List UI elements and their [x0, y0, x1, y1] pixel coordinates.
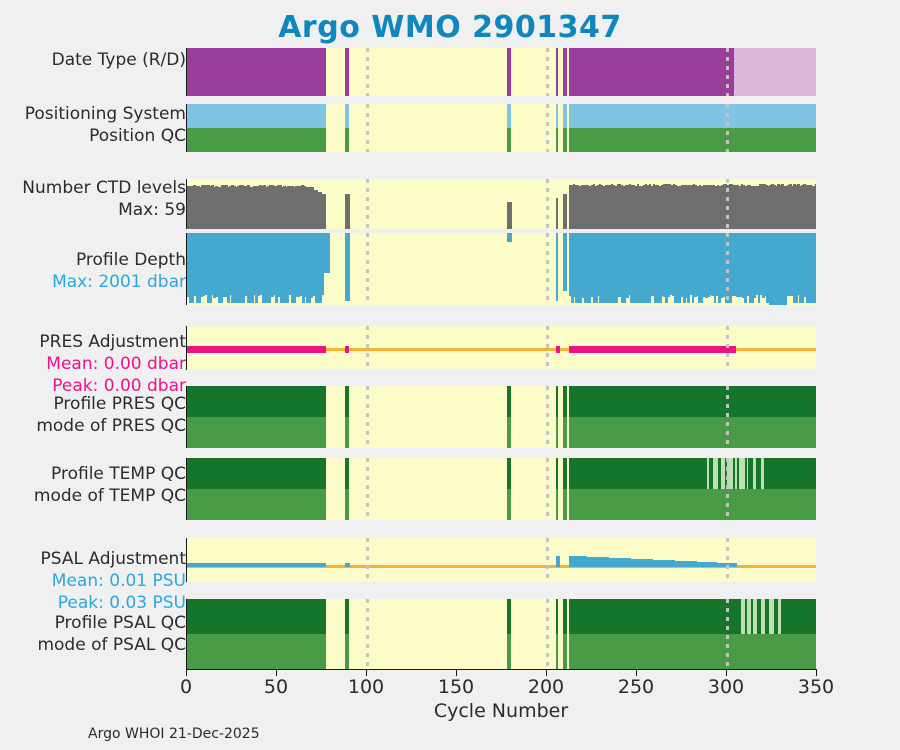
x-axis	[186, 669, 816, 670]
label-text: Profile PSAL QC	[0, 613, 186, 635]
psal-adjustment-segment	[558, 556, 561, 567]
row-label-pres-qc: Profile PRES QC mode of PRES QC	[0, 394, 186, 438]
x-tick-label: 100	[348, 676, 384, 698]
data-segment	[767, 458, 816, 489]
data-segment	[507, 634, 511, 669]
panel-ctd-levels	[186, 179, 816, 229]
pres-adjustment-segment	[345, 346, 349, 353]
data-bar	[556, 233, 558, 301]
data-segment	[345, 128, 349, 152]
gridline	[366, 179, 369, 229]
gridline	[726, 458, 729, 520]
gridline	[366, 599, 369, 669]
data-segment	[345, 48, 349, 96]
gridline	[546, 48, 549, 96]
x-tick-label: 300	[708, 676, 744, 698]
data-segment	[556, 599, 558, 634]
data-bar	[556, 198, 558, 229]
row-label-date-type: Date Type (R/D)	[0, 50, 186, 72]
row-label-temp-qc: Profile TEMP QC mode of TEMP QC	[0, 464, 186, 508]
qc-stripe	[735, 458, 737, 489]
label-text: PRES Adjustment	[0, 332, 186, 354]
data-segment	[345, 489, 349, 520]
gridline	[546, 386, 549, 448]
gridline	[366, 538, 369, 582]
x-tick	[366, 669, 367, 676]
gridline	[546, 179, 549, 229]
label-text: Profile PRES QC	[0, 394, 186, 416]
label-psal-mean: Mean: 0.01 PSU	[0, 571, 186, 593]
data-segment	[187, 489, 326, 520]
data-segment	[563, 458, 567, 489]
data-bar	[815, 233, 816, 303]
data-segment	[563, 599, 567, 634]
label-text: mode of TEMP QC	[0, 486, 186, 508]
row-label-psal-adjustment: PSAL Adjustment Mean: 0.01 PSU Peak: 0.0…	[0, 549, 186, 614]
x-axis-label: Cycle Number	[186, 700, 816, 722]
gridline	[546, 599, 549, 669]
data-segment	[569, 386, 816, 417]
gridline	[546, 458, 549, 520]
gridline	[726, 599, 729, 669]
data-segment	[345, 634, 349, 669]
row-label-profile-depth: Profile Depth Max: 2001 dbar	[0, 250, 186, 294]
data-segment	[556, 128, 558, 152]
label-max-depth: Max: 2001 dbar	[0, 272, 186, 294]
data-segment	[345, 386, 349, 417]
label-text: Max: 59	[0, 200, 186, 222]
data-segment	[569, 417, 816, 448]
x-tick	[546, 669, 547, 676]
x-tick	[816, 669, 817, 676]
label-text: Position QC	[0, 126, 186, 148]
gridline	[726, 48, 729, 96]
data-segment	[569, 128, 816, 152]
data-segment	[507, 128, 511, 152]
pres-adjustment-segment	[569, 346, 736, 353]
data-segment	[563, 386, 567, 417]
gridline	[366, 48, 369, 96]
data-bar	[509, 202, 511, 230]
x-tick-label: 350	[798, 676, 834, 698]
data-segment	[569, 634, 816, 669]
panel-date-type	[186, 48, 816, 96]
data-bar	[509, 233, 511, 242]
data-segment	[556, 634, 558, 669]
gridline	[546, 104, 549, 152]
data-segment	[556, 104, 558, 128]
data-segment	[187, 386, 326, 417]
data-bar	[565, 194, 567, 229]
data-segment	[563, 634, 567, 669]
label-text: Number CTD levels	[0, 178, 186, 200]
data-segment	[556, 489, 558, 520]
qc-stripe	[753, 599, 756, 634]
data-segment	[507, 386, 511, 417]
track-date-type	[187, 48, 816, 96]
panel-pres-adjustment	[186, 326, 816, 370]
gridline	[366, 104, 369, 152]
x-tick	[186, 669, 187, 676]
qc-stripe	[761, 458, 764, 489]
x-tick	[456, 669, 457, 676]
qc-stripe	[747, 599, 751, 634]
label-text: Profile Depth	[0, 250, 186, 272]
gridline	[726, 538, 729, 582]
x-tick-label: 250	[618, 676, 654, 698]
data-segment	[187, 417, 326, 448]
track-temp-qc	[187, 458, 816, 520]
psal-adjustment-segment	[347, 563, 350, 567]
row-label-psal-qc: Profile PSAL QC mode of PSAL QC	[0, 613, 186, 657]
data-segment	[556, 417, 558, 448]
row-label-positioning: Positioning System Position QC	[0, 104, 186, 148]
qc-stripe	[713, 458, 718, 489]
label-psal-peak: Peak: 0.03 PSU	[0, 593, 186, 615]
gridline	[726, 233, 729, 305]
panel-psal-qc	[186, 599, 816, 669]
x-tick-label: 200	[528, 676, 564, 698]
qc-stripe	[761, 599, 765, 634]
psal-adjustment-segment	[734, 563, 737, 567]
track-psal-adjustment	[187, 538, 816, 582]
gridline	[366, 326, 369, 370]
row-label-pres-adjustment: PRES Adjustment Mean: 0.00 dbar Peak: 0.…	[0, 332, 186, 397]
data-segment	[569, 104, 816, 128]
data-segment	[563, 48, 567, 96]
track-profile-depth	[187, 233, 816, 305]
qc-stripe	[753, 458, 756, 489]
data-bar	[324, 194, 327, 229]
panel-psal-adjustment	[186, 538, 816, 582]
data-segment	[556, 386, 558, 417]
label-text: Profile TEMP QC	[0, 464, 186, 486]
chart-plot-area	[186, 48, 816, 669]
qc-stripe	[769, 599, 774, 634]
data-bar	[347, 194, 349, 229]
label-text: mode of PSAL QC	[0, 635, 186, 657]
row-label-ctd-levels: Number CTD levels Max: 59	[0, 178, 186, 222]
data-segment	[345, 458, 349, 489]
data-segment	[781, 599, 816, 634]
data-segment	[734, 48, 816, 96]
data-segment	[569, 599, 742, 634]
data-segment	[507, 599, 511, 634]
data-segment	[569, 48, 735, 96]
credit-text: Argo WHOI 21-Dec-2025	[88, 726, 260, 742]
gridline	[366, 233, 369, 305]
data-segment	[569, 458, 708, 489]
track-ctd-levels	[187, 179, 816, 229]
gridline	[546, 326, 549, 370]
data-segment	[556, 48, 558, 96]
data-bar	[565, 233, 567, 291]
gridline	[726, 386, 729, 448]
psal-adjustment-segment	[324, 563, 327, 567]
label-text: PSAL Adjustment	[0, 549, 186, 571]
x-tick-label: 150	[438, 676, 474, 698]
qc-stripe	[739, 458, 745, 489]
data-segment	[187, 458, 326, 489]
page-title: Argo WMO 2901347	[0, 10, 900, 45]
x-tick-label: 50	[264, 676, 288, 698]
panel-positioning	[186, 104, 816, 152]
data-segment	[187, 128, 326, 152]
data-segment	[563, 417, 567, 448]
panel-profile-depth	[186, 233, 816, 305]
label-text: Positioning System	[0, 104, 186, 126]
data-segment	[507, 104, 511, 128]
x-tick	[276, 669, 277, 676]
gridline	[546, 233, 549, 305]
gridline	[726, 104, 729, 152]
label-text: Date Type (R/D)	[0, 50, 186, 72]
qc-stripe	[747, 458, 749, 489]
x-tick-label: 0	[180, 676, 192, 698]
gridline	[726, 326, 729, 370]
data-bar	[347, 233, 349, 301]
qc-stripe	[741, 599, 744, 634]
data-segment	[187, 634, 326, 669]
panel-pres-qc	[186, 386, 816, 448]
track-psal-qc	[187, 599, 816, 669]
data-segment	[187, 48, 326, 96]
data-segment	[345, 417, 349, 448]
data-segment	[187, 599, 326, 634]
qc-stripe	[707, 458, 709, 489]
panel-temp-qc	[186, 458, 816, 520]
data-bar	[327, 233, 330, 273]
data-segment	[569, 489, 816, 520]
qc-stripe	[721, 458, 725, 489]
data-bar	[815, 184, 816, 229]
data-segment	[345, 599, 349, 634]
data-segment	[507, 489, 511, 520]
data-segment	[563, 104, 567, 128]
track-pres-qc	[187, 386, 816, 448]
data-segment	[507, 417, 511, 448]
gridline	[366, 458, 369, 520]
data-segment	[507, 48, 511, 96]
track-pres-adjustment	[187, 326, 816, 370]
pres-adjustment-segment	[187, 346, 326, 353]
track-positioning	[187, 104, 816, 152]
label-text: mode of PRES QC	[0, 416, 186, 438]
data-segment	[556, 458, 558, 489]
x-tick	[726, 669, 727, 676]
gridline	[726, 179, 729, 229]
data-segment	[563, 489, 567, 520]
x-tick	[636, 669, 637, 676]
gridline	[546, 538, 549, 582]
pres-adjustment-segment	[556, 346, 560, 353]
data-segment	[187, 104, 326, 128]
data-segment	[345, 104, 349, 128]
data-segment	[563, 128, 567, 152]
label-pres-mean: Mean: 0.00 dbar	[0, 354, 186, 376]
gridline	[366, 386, 369, 448]
data-segment	[507, 458, 511, 489]
